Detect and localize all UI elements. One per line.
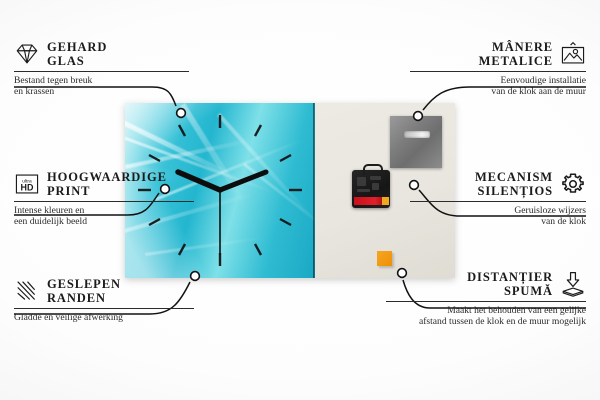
feature-title: MÂNERE <box>479 40 553 54</box>
feature-title: HOOGWAARDIGE <box>47 170 167 184</box>
feature-title-line2: RANDEN <box>47 291 121 305</box>
feature-title: GESLEPEN <box>47 277 121 291</box>
feature-subtitle-line2: afstand tussen de klok en de muur mogeli… <box>386 316 586 327</box>
feature-manere-metalice: MÂNERE METALICE Eenvoudige installatie v… <box>410 40 586 98</box>
feature-title: MECANISM <box>475 170 553 184</box>
feature-subtitle-line2: een duidelijk beeld <box>14 216 194 227</box>
ultra-hd-icon-bottom-text: HD <box>21 183 34 193</box>
feature-gehard-glas: GEHARD GLAS Bestand tegen breuk en krass… <box>14 40 189 98</box>
feature-geslepen-randen: GESLEPEN RANDEN Gladde en veilige afwerk… <box>14 277 194 323</box>
wall-mount-picture-icon <box>560 41 586 67</box>
feature-subtitle: Eenvoudige installatie <box>410 75 586 86</box>
feature-subtitle: Bestand tegen breuk <box>14 75 189 86</box>
divider <box>14 71 189 72</box>
infographic-canvas: GEHARD GLAS Bestand tegen breuk en krass… <box>0 0 600 400</box>
gear-icon <box>560 171 586 197</box>
feature-subtitle: Maakt het behouden van een gelijke <box>386 305 586 316</box>
beveled-edges-icon <box>14 278 40 304</box>
feature-hoogwaardige-print: ultra HD HOOGWAARDIGE PRINT Intense kleu… <box>14 170 194 228</box>
connector-dot-manere-metalice <box>414 112 423 121</box>
feature-subtitle: Geruisloze wijzers <box>410 205 586 216</box>
feature-title: GEHARD <box>47 40 107 54</box>
feature-subtitle-line2: van de klok <box>410 216 586 227</box>
divider <box>410 71 586 72</box>
feature-title-line2: SPUMĂ <box>467 284 553 298</box>
feature-subtitle: Intense kleuren en <box>14 205 194 216</box>
feature-distantier-spuma: DISTANȚIER SPUMĂ Maakt het behouden van … <box>386 270 586 328</box>
feature-title-line2: METALICE <box>479 54 553 68</box>
ultra-hd-icon: ultra HD <box>14 171 40 197</box>
divider <box>410 201 586 202</box>
foam-spacer-arrow-icon <box>560 271 586 297</box>
connector-dot-gehard-glas <box>177 109 186 118</box>
divider <box>386 301 586 302</box>
feature-title-line2: PRINT <box>47 184 167 198</box>
feature-subtitle-line2: en krassen <box>14 86 189 97</box>
feature-title-line2: SILENȚIOS <box>475 184 553 198</box>
feature-mecanism-silentios: MECANISM SILENȚIOS Geruisloze wijzers va… <box>410 170 586 228</box>
feature-title: DISTANȚIER <box>467 270 553 284</box>
feature-subtitle-line2: van de klok aan de muur <box>410 86 586 97</box>
feature-subtitle: Gladde en veilige afwerking <box>14 312 194 323</box>
feature-title-line2: GLAS <box>47 54 107 68</box>
divider <box>14 201 194 202</box>
divider <box>14 308 194 309</box>
diamond-icon <box>14 41 40 67</box>
